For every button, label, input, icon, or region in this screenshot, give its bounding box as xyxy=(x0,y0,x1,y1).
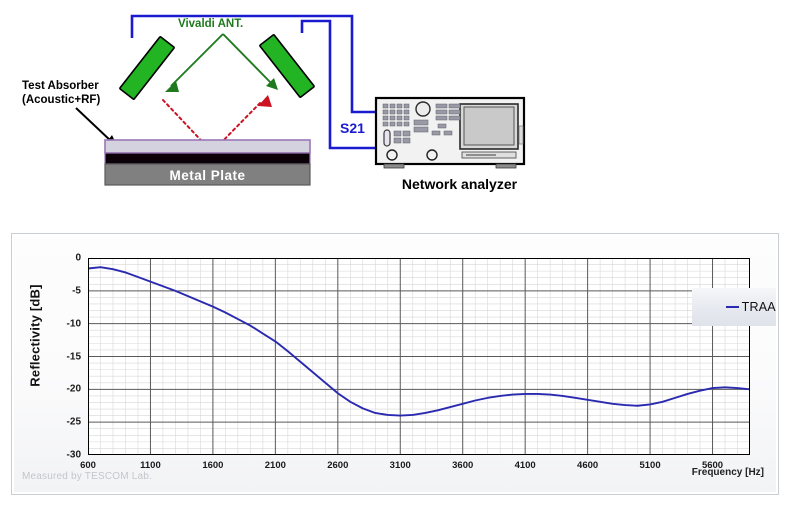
measurement-setup-diagram: Test Absorber (Acoustic+RF) Vivaldi ANT.… xyxy=(0,0,792,212)
chart-y-tick: -5 xyxy=(72,285,81,296)
reflectivity-chart-panel: Reflectivity [dB] 0-5-10-15-20-25-306001… xyxy=(11,233,779,495)
chart-x-tick: 2600 xyxy=(327,460,348,471)
chart-y-axis-label: Reflectivity [dB] xyxy=(28,261,43,411)
chart-y-tick: -25 xyxy=(67,417,81,428)
chart-inner: Reflectivity [dB] 0-5-10-15-20-25-306001… xyxy=(14,236,776,492)
network-analyzer-instrument xyxy=(376,98,524,168)
cable-left xyxy=(132,16,376,112)
chart-x-tick: 3100 xyxy=(390,460,411,471)
chart-x-tick: 600 xyxy=(80,460,96,471)
chart-x-axis-label: Frequency [Hz] xyxy=(692,467,764,478)
chart-x-tick: 4100 xyxy=(515,460,536,471)
chart-plot-area: 0-5-10-15-20-25-306001100160021002600310… xyxy=(88,258,750,455)
vivaldi-antenna-right xyxy=(260,34,315,97)
label-network-analyzer: Network analyzer xyxy=(372,176,547,192)
chart-y-tick: -20 xyxy=(67,384,81,395)
chart-x-tick: 3600 xyxy=(452,460,473,471)
chart-x-tick: 1100 xyxy=(140,460,161,471)
chart-x-tick: 5100 xyxy=(639,460,660,471)
label-metal-plate: Metal Plate xyxy=(105,168,310,183)
chart-legend: TRAA-90T xyxy=(692,288,776,326)
vivaldi-antenna-left xyxy=(120,36,175,99)
chart-y-tick: -30 xyxy=(67,450,81,461)
chart-x-tick: 1600 xyxy=(202,460,223,471)
chart-x-tick: 4600 xyxy=(577,460,598,471)
label-test-absorber: Test Absorber (Acoustic+RF) xyxy=(22,80,100,107)
chart-y-tick: -15 xyxy=(67,351,81,362)
label-s21: S21 xyxy=(340,120,365,137)
chart-plot-svg xyxy=(88,258,750,455)
label-vivaldi-antenna: Vivaldi ANT. xyxy=(178,18,243,32)
chart-y-tick: -10 xyxy=(67,318,81,329)
legend-line-swatch xyxy=(726,306,739,308)
legend-label: TRAA-90T xyxy=(742,300,776,314)
chart-x-tick: 2100 xyxy=(265,460,286,471)
chart-watermark: Measured by TESCOM Lab. xyxy=(22,471,152,482)
vivaldi-pointer-arrows xyxy=(165,34,278,92)
chart-y-tick: 0 xyxy=(75,253,81,264)
